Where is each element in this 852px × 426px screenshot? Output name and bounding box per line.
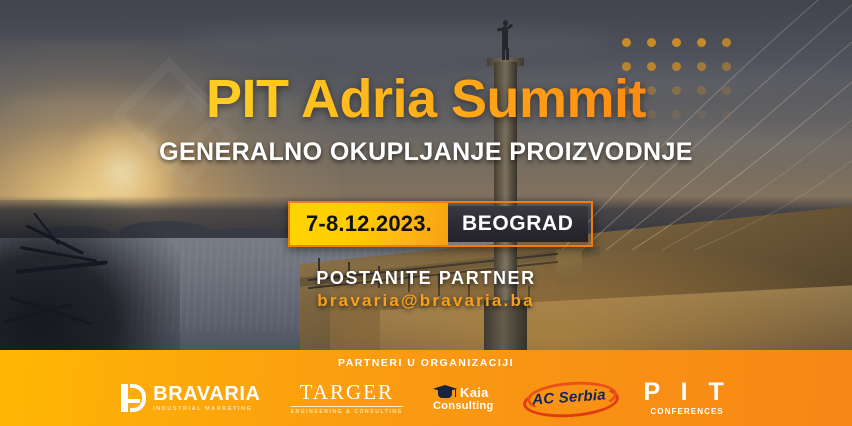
contact-email[interactable]: bravaria@bravaria.ba	[0, 291, 852, 311]
targer-name: TARGER	[300, 382, 394, 403]
partner-logo-ac-serbia[interactable]: AC Serbia	[523, 376, 613, 420]
targer-tagline: ENGINEERING & CONSULTING	[291, 409, 403, 415]
partner-logo-kaia-consulting[interactable]: Kaia Consulting	[433, 376, 493, 420]
partner-bar: PARTNERI U ORGANIZACIJI BRAVARIA INDUSTR…	[0, 350, 852, 426]
targer-divider	[291, 406, 403, 407]
partner-bar-heading: PARTNERI U ORGANIZACIJI	[0, 357, 852, 369]
graduation-cap-icon	[433, 384, 457, 400]
event-city: BEOGRAD	[448, 206, 588, 242]
pit-name: P I T	[643, 380, 730, 405]
partner-logo-row: BRAVARIA INDUSTRIAL MARKETING TARGER ENG…	[0, 374, 852, 422]
partner-logo-pit-conferences[interactable]: P I T CONFERENCES	[643, 376, 730, 420]
pit-tagline: CONFERENCES	[650, 407, 723, 416]
partner-cta-heading: POSTANITE PARTNER	[0, 268, 852, 289]
event-subtitle: GENERALNO OKUPLJANJE PROIZVODNJE	[0, 138, 852, 167]
event-date: 7-8.12.2023.	[290, 203, 448, 245]
kaia-name: Kaia	[460, 385, 489, 400]
banner-content: PIT Adria Summit GENERALNO OKUPLJANJE PR…	[0, 0, 852, 426]
event-title: PIT Adria Summit	[0, 72, 852, 126]
bravaria-b-mark-icon	[121, 384, 146, 412]
partner-logo-targer[interactable]: TARGER ENGINEERING & CONSULTING	[291, 376, 403, 420]
bravaria-name: BRAVARIA	[153, 384, 260, 404]
targer-name-text: TARGER	[300, 380, 394, 404]
event-promo-banner: PIT Adria Summit GENERALNO OKUPLJANJE PR…	[0, 0, 852, 426]
partner-logo-bravaria[interactable]: BRAVARIA INDUSTRIAL MARKETING	[121, 376, 260, 420]
kaia-tagline: Consulting	[433, 400, 493, 412]
date-city-badge: 7-8.12.2023. BEOGRAD	[288, 201, 593, 247]
bravaria-tagline: INDUSTRIAL MARKETING	[153, 407, 260, 413]
